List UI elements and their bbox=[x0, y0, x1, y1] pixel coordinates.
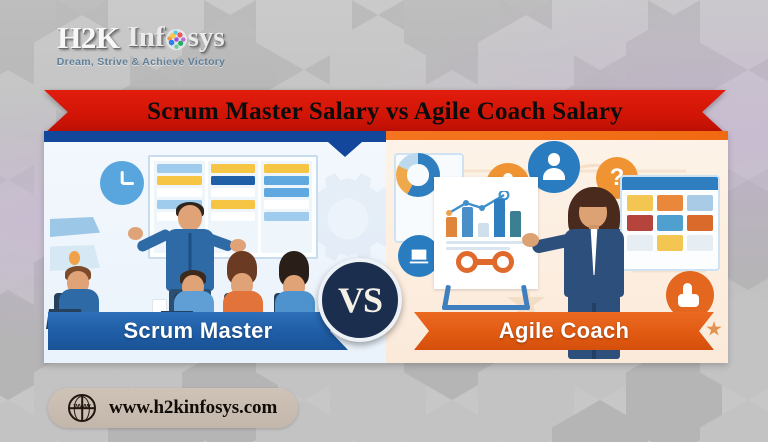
clock-icon bbox=[100, 161, 144, 205]
label-ribbon-agile-coach: Agile Coach bbox=[414, 312, 714, 350]
brand-tagline: Dream, Strive & Achieve Victory bbox=[36, 56, 246, 68]
globe-icon bbox=[167, 30, 186, 49]
top-band-right bbox=[386, 131, 728, 140]
agile-coach-label: Agile Coach bbox=[499, 318, 629, 344]
www-globe-icon: WWW bbox=[68, 394, 96, 422]
infographic-canvas: H2K Inf sys Dream, Strive & Achieve Vict… bbox=[0, 0, 768, 442]
vs-badge: VS bbox=[318, 258, 402, 342]
www-icon-text: WWW bbox=[70, 405, 94, 411]
top-band-left bbox=[44, 131, 386, 142]
website-pill[interactable]: WWW www.h2kinfosys.com bbox=[48, 388, 298, 428]
page-title: Scrum Master Salary vs Agile Coach Salar… bbox=[147, 98, 623, 126]
logo-infosys-text: Inf bbox=[128, 23, 165, 52]
thumbs-up-icon bbox=[666, 271, 714, 319]
vs-label: VS bbox=[338, 279, 382, 321]
infinity-icon bbox=[456, 251, 514, 273]
scrum-master-label: Scrum Master bbox=[123, 318, 272, 344]
logo-h2k-text: H2K bbox=[57, 22, 119, 53]
title-banner: Scrum Master Salary vs Agile Coach Salar… bbox=[44, 90, 726, 134]
brand-logo: H2K Inf sys Dream, Strive & Achieve Vict… bbox=[36, 22, 246, 68]
logo-infosys-text-2: sys bbox=[188, 23, 225, 52]
bar-chart-icon bbox=[446, 195, 526, 237]
website-url: www.h2kinfosys.com bbox=[109, 397, 277, 419]
label-ribbon-scrum-master: Scrum Master bbox=[48, 312, 348, 350]
